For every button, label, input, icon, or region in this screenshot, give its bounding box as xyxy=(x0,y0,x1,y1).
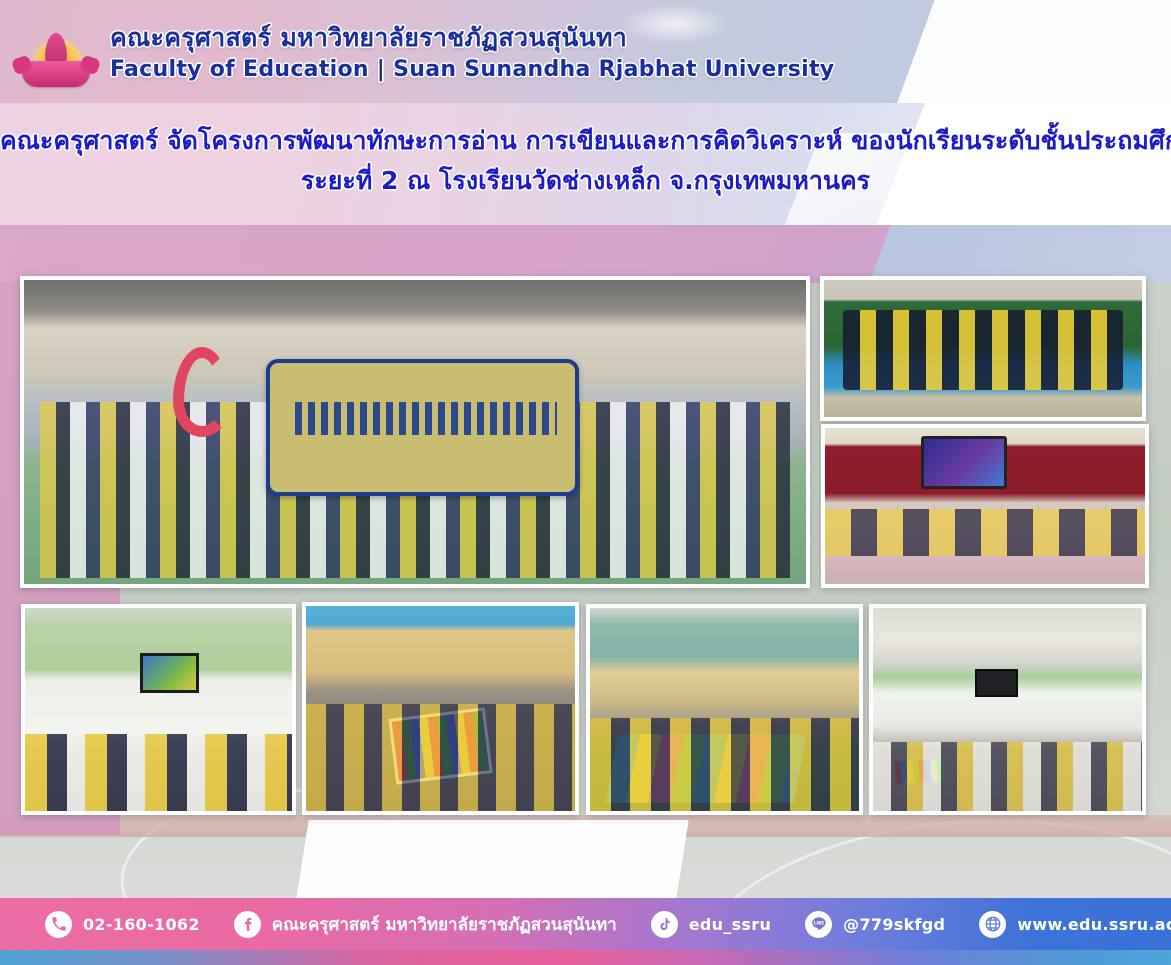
contact-phone[interactable]: 02-160-1062 xyxy=(45,911,200,938)
contact-facebook-label: คณะครุศาสตร์ มหาวิทยาลัยราชภัฏสวนสุนันทา xyxy=(272,911,617,938)
contact-website[interactable]: www.edu.ssru.ac.th xyxy=(979,911,1171,938)
poster-root: คณะครุศาสตร์ มหาวิทยาลัยราชภัฏสวนสุนันทา… xyxy=(0,0,1171,965)
photo-class-a[interactable] xyxy=(21,604,296,815)
contact-tiktok-label: edu_ssru xyxy=(689,915,771,934)
footer-accent-strip xyxy=(0,950,1171,965)
svg-text:LINE: LINE xyxy=(814,920,824,925)
photo-class-c[interactable] xyxy=(586,604,863,815)
contact-footer: 02-160-1062 คณะครุศาสตร์ มหาวิทยาลัยราชภ… xyxy=(0,898,1171,950)
globe-icon xyxy=(979,911,1006,938)
contact-list: 02-160-1062 คณะครุศาสตร์ มหาวิทยาลัยราชภ… xyxy=(0,911,1171,938)
line-icon: LINE xyxy=(805,911,832,938)
contact-line[interactable]: LINE @779skfgd xyxy=(805,911,945,938)
photo-staff-row[interactable] xyxy=(820,276,1146,421)
photo-meeting[interactable] xyxy=(821,424,1149,588)
contact-tiktok[interactable]: edu_ssru xyxy=(651,911,771,938)
tiktok-icon xyxy=(651,911,678,938)
photo-class-b[interactable] xyxy=(302,602,579,815)
contact-line-label: @779skfgd xyxy=(843,915,945,934)
contact-facebook[interactable]: คณะครุศาสตร์ มหาวิทยาลัยราชภัฏสวนสุนันทา xyxy=(234,911,617,938)
photo-class-d[interactable] xyxy=(869,604,1146,815)
contact-website-label: www.edu.ssru.ac.th xyxy=(1017,915,1171,934)
photo-group-main[interactable] xyxy=(20,276,810,588)
photo-collage xyxy=(0,0,1171,965)
contact-phone-label: 02-160-1062 xyxy=(83,915,200,934)
facebook-icon xyxy=(234,911,261,938)
phone-icon xyxy=(45,911,72,938)
